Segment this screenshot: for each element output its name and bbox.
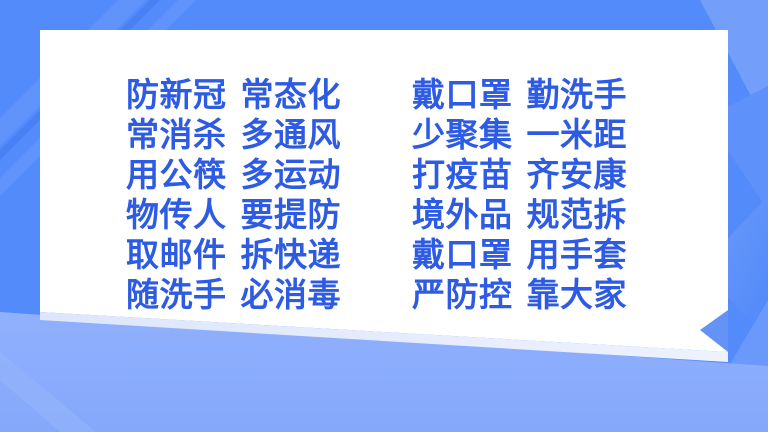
slogan-phrase: 多运动 bbox=[241, 158, 342, 191]
slogan-cell-r6-right: 严防控 靠大家 bbox=[412, 274, 646, 314]
slogan-cell-r3-left: 用公筷 多运动 bbox=[126, 154, 360, 194]
slogan-phrase: 打疫苗 bbox=[412, 158, 513, 191]
slogan-phrase: 勤洗手 bbox=[527, 78, 628, 111]
slogan-phrase: 境外品 bbox=[412, 198, 513, 231]
slogan-cell-r2-right: 少聚集 一米距 bbox=[412, 114, 646, 154]
slogan-phrase: 随洗手 bbox=[126, 278, 227, 311]
slogan-phrase: 少聚集 bbox=[412, 118, 513, 151]
slogan-cell-r3-right: 打疫苗 齐安康 bbox=[412, 154, 646, 194]
slogan-phrase: 要提防 bbox=[241, 198, 342, 231]
slogan-cell-r5-left: 取邮件 拆快递 bbox=[126, 234, 360, 274]
slogan-phrase: 取邮件 bbox=[126, 238, 227, 271]
slogan-phrase: 多通风 bbox=[241, 118, 342, 151]
slogan-cell-r4-left: 物传人 要提防 bbox=[126, 194, 360, 234]
slogan-phrase: 用公筷 bbox=[126, 158, 227, 191]
slogan-grid: 防新冠 常态化 戴口罩 勤洗手 常消杀 多通风 少聚集 一米距 用公筷 多运动 … bbox=[126, 74, 646, 314]
slogan-phrase: 必消毒 bbox=[241, 278, 342, 311]
slogan-phrase: 靠大家 bbox=[527, 278, 628, 311]
slogan-phrase: 常态化 bbox=[241, 78, 342, 111]
slogan-phrase: 拆快递 bbox=[241, 238, 342, 271]
slogan-phrase: 物传人 bbox=[126, 198, 227, 231]
slogan-cell-r6-left: 随洗手 必消毒 bbox=[126, 274, 360, 314]
slogan-phrase: 常消杀 bbox=[126, 118, 227, 151]
poster-stage: 防新冠 常态化 戴口罩 勤洗手 常消杀 多通风 少聚集 一米距 用公筷 多运动 … bbox=[0, 0, 768, 432]
slogan-cell-r5-right: 戴口罩 用手套 bbox=[412, 234, 646, 274]
slogan-phrase: 戴口罩 bbox=[412, 78, 513, 111]
slogan-cell-r2-left: 常消杀 多通风 bbox=[126, 114, 360, 154]
slogan-phrase: 规范拆 bbox=[527, 198, 628, 231]
slogan-cell-r4-right: 境外品 规范拆 bbox=[412, 194, 646, 234]
slogan-phrase: 一米距 bbox=[527, 118, 628, 151]
slogan-phrase: 防新冠 bbox=[126, 78, 227, 111]
slogan-phrase: 用手套 bbox=[527, 238, 628, 271]
slogan-phrase: 戴口罩 bbox=[412, 238, 513, 271]
slogan-phrase: 严防控 bbox=[412, 278, 513, 311]
slogan-cell-r1-right: 戴口罩 勤洗手 bbox=[412, 74, 646, 114]
slogan-cell-r1-left: 防新冠 常态化 bbox=[126, 74, 360, 114]
slogan-phrase: 齐安康 bbox=[527, 158, 628, 191]
